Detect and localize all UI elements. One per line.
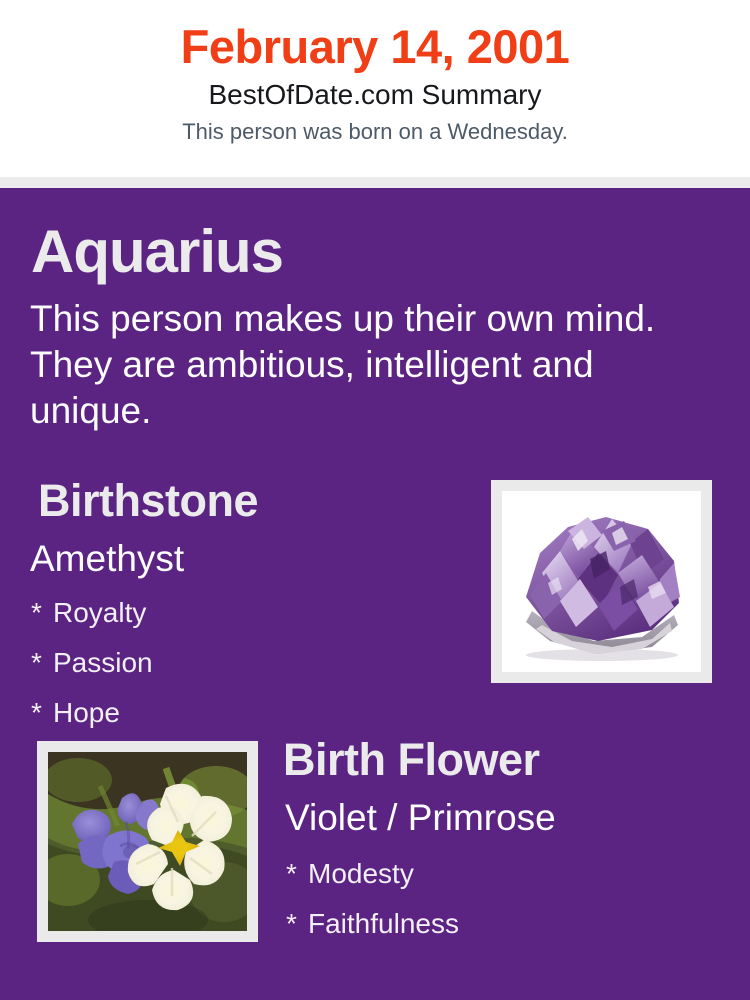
page-title-date: February 14, 2001 <box>0 0 750 70</box>
birth-flower-name: Violet / Primrose <box>285 782 743 836</box>
trait-label: Royalty <box>53 597 146 628</box>
bullet-star-icon: * <box>286 860 308 888</box>
list-item: *Modesty <box>286 860 743 910</box>
birthstone-trait-list: *Royalty *Passion *Hope <box>31 577 480 749</box>
birthstone-section: Birthstone Amethyst *Royalty *Passion *H… <box>0 478 480 749</box>
header-divider <box>0 177 750 188</box>
birthstone-name: Amethyst <box>30 523 480 577</box>
amethyst-photo-frame <box>491 480 712 683</box>
amethyst-crystal-photo <box>502 491 701 672</box>
header: February 14, 2001 BestOfDate.com Summary… <box>0 0 750 177</box>
list-item: *Faithfulness <box>286 910 743 960</box>
trait-label: Hope <box>53 697 120 728</box>
site-summary-label: BestOfDate.com Summary <box>0 70 750 109</box>
flower-photo-frame <box>37 741 258 942</box>
trait-label: Modesty <box>308 858 414 889</box>
bullet-star-icon: * <box>286 910 308 938</box>
birth-weekday-note: This person was born on a Wednesday. <box>0 109 750 143</box>
birth-flower-heading: Birth Flower <box>283 737 743 782</box>
birthstone-heading: Birthstone <box>38 478 480 523</box>
trait-label: Passion <box>53 647 153 678</box>
birth-flower-section: Birth Flower Violet / Primrose *Modesty … <box>283 737 743 960</box>
list-item: *Royalty <box>31 599 480 649</box>
violet-primrose-photo <box>48 752 247 931</box>
bullet-star-icon: * <box>31 649 53 677</box>
zodiac-description: This person makes up their own mind. The… <box>30 296 690 434</box>
trait-label: Faithfulness <box>308 908 459 939</box>
birth-flower-trait-list: *Modesty *Faithfulness <box>286 836 743 960</box>
bullet-star-icon: * <box>31 599 53 627</box>
zodiac-sign-name: Aquarius <box>31 222 283 282</box>
list-item: *Passion <box>31 649 480 699</box>
summary-card: February 14, 2001 BestOfDate.com Summary… <box>0 0 750 1000</box>
bullet-star-icon: * <box>31 699 53 727</box>
